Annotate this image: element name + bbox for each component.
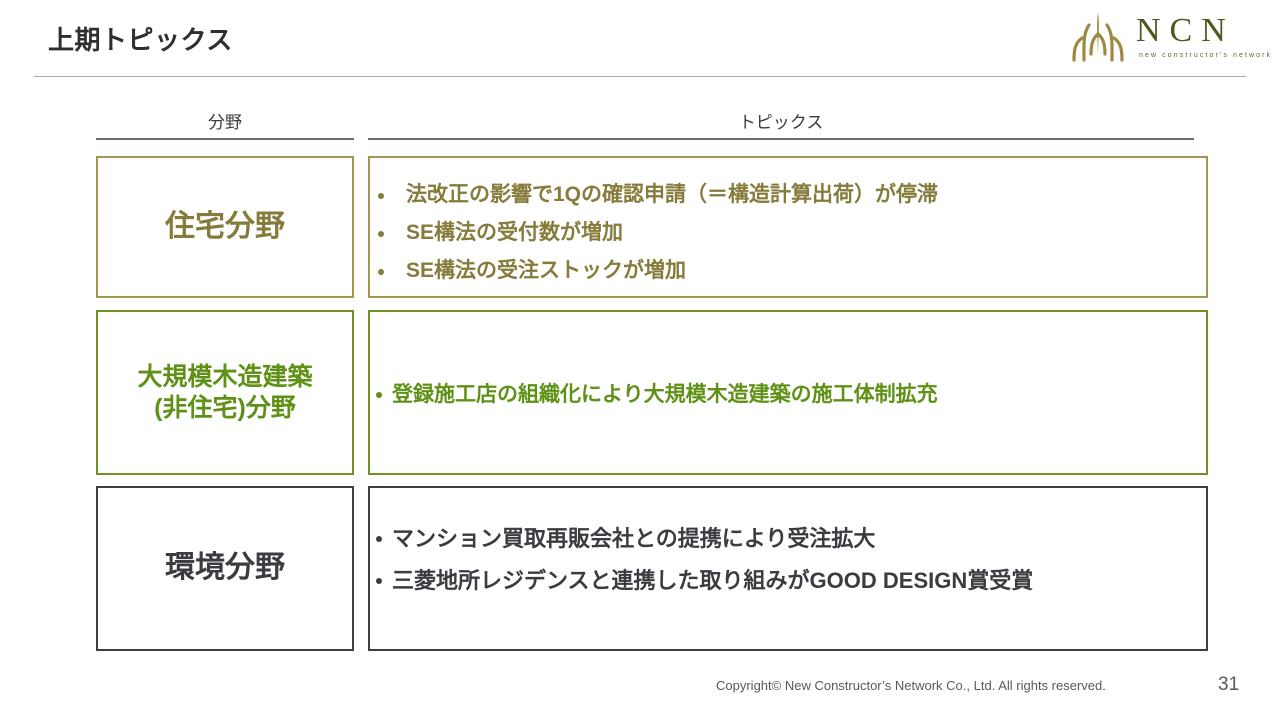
list-item-text: 登録施工店の組織化により大規模木造建築の施工体制拡充: [392, 383, 938, 406]
logo-wordmark: NCN: [1136, 12, 1235, 50]
bullet-dot-icon: [376, 536, 382, 542]
list-item-text: マンション買取再販会社との提携により受注拡大: [392, 526, 875, 551]
list-item: SE構法の受付数が増加: [370, 214, 1206, 252]
column-header-topics: トピックス: [368, 108, 1194, 133]
column-header-field-rule: [96, 138, 354, 140]
page-title: 上期トピックス: [48, 20, 233, 57]
row-content-housing: 法改正の影響で1Qの確認申請（＝構造計算出荷）が停滞 SE構法の受付数が増加 S…: [368, 156, 1208, 298]
row-label-environment: 環境分野: [96, 486, 354, 651]
bullet-dot-icon: [378, 231, 384, 237]
column-header-field: 分野: [96, 108, 354, 133]
page-number: 31: [1218, 674, 1239, 696]
list-item-text: 法改正の影響で1Qの確認申請（＝構造計算出荷）が停滞: [406, 183, 938, 206]
list-item: マンション買取再販会社との提携により受注拡大: [370, 518, 1206, 560]
wheat-plant-logo-icon: [1062, 10, 1134, 62]
bullet-dot-icon: [378, 193, 384, 199]
list-item-text: SE構法の受注ストックが増加: [406, 259, 686, 282]
column-header-topics-rule: [368, 138, 1194, 140]
ncn-logo: NCN new constructor's network: [1050, 8, 1250, 70]
list-item: SE構法の受注ストックが増加: [370, 252, 1206, 290]
row-label-large-scale-wooden: 大規模木造建築 (非住宅)分野: [96, 310, 354, 475]
bullet-dot-icon: [376, 392, 382, 398]
list-item: 三菱地所レジデンスと連携した取り組みがGOOD DESIGN賞受賞: [370, 560, 1206, 602]
footer-copyright: Copyright© New Constructor’s Network Co.…: [716, 678, 1106, 693]
list-item: 登録施工店の組織化により大規模木造建築の施工体制拡充: [370, 378, 1206, 412]
header-divider: [34, 76, 1246, 77]
row-label-line1: 大規模木造建築: [137, 362, 312, 393]
row-content-large-scale-wooden: 登録施工店の組織化により大規模木造建築の施工体制拡充: [368, 310, 1208, 475]
row-content-environment: マンション買取再販会社との提携により受注拡大 三菱地所レジデンスと連携した取り組…: [368, 486, 1208, 651]
row-label-housing: 住宅分野: [96, 156, 354, 298]
list-item-text: SE構法の受付数が増加: [406, 221, 623, 244]
bullet-list-environment: マンション買取再販会社との提携により受注拡大 三菱地所レジデンスと連携した取り組…: [370, 518, 1206, 602]
bullet-dot-icon: [376, 578, 382, 584]
bullet-list-housing: 法改正の影響で1Qの確認申請（＝構造計算出荷）が停滞 SE構法の受付数が増加 S…: [370, 176, 1206, 290]
logo-tagline: new constructor's network: [1139, 52, 1272, 59]
bullet-list-large-scale-wooden: 登録施工店の組織化により大規模木造建築の施工体制拡充: [370, 378, 1206, 412]
list-item: 法改正の影響で1Qの確認申請（＝構造計算出荷）が停滞: [370, 176, 1206, 214]
list-item-text: 三菱地所レジデンスと連携した取り組みがGOOD DESIGN賞受賞: [392, 568, 1033, 593]
row-label-line2: (非住宅)分野: [137, 393, 312, 424]
bullet-dot-icon: [378, 269, 384, 275]
